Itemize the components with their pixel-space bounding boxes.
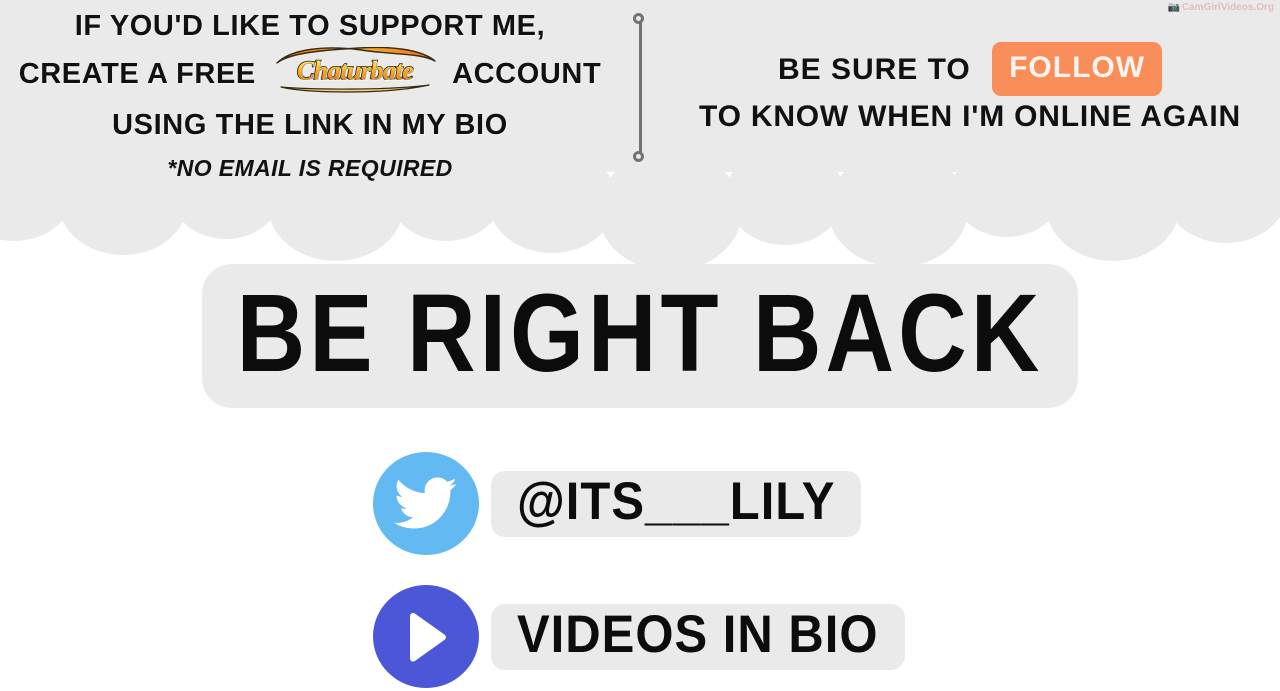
svg-text:Chaturbate: Chaturbate: [296, 56, 412, 85]
support-line-2-after: ACCOUNT: [452, 58, 601, 90]
divider-line: [639, 16, 642, 153]
chaturbate-logo: Chaturbate: [269, 47, 441, 105]
status-banner: BE RIGHT BACK: [202, 264, 1078, 408]
header-content: 📷CamGirlVideos.Org IF YOU'D LIKE TO SUPP…: [0, 0, 1280, 172]
cam-icon: 📷: [1167, 2, 1179, 13]
videos-in-bio-pill[interactable]: VIDEOS IN BIO: [491, 604, 905, 670]
stream-overlay-screen: 📷CamGirlVideos.Org IF YOU'D LIKE TO SUPP…: [0, 0, 1280, 691]
follow-message-block: BE SURE TO FOLLOW TO KNOW WHEN I'M ONLIN…: [660, 44, 1280, 134]
watermark-text: CamGirlVideos.Org: [1182, 2, 1274, 13]
vertical-pin-divider: [632, 8, 648, 160]
support-message-block: IF YOU'D LIKE TO SUPPORT ME, CREATE A FR…: [0, 6, 620, 182]
twitter-bird-icon[interactable]: [373, 452, 479, 555]
support-line-3: USING THE LINK IN MY BIO: [0, 105, 620, 146]
twitter-handle-pill[interactable]: @ITS___LILY: [491, 471, 861, 537]
site-watermark: 📷CamGirlVideos.Org: [1167, 2, 1274, 13]
twitter-handle-label: @ITS___LILY: [517, 476, 835, 529]
support-line-2: CREATE A FREE: [0, 47, 620, 105]
divider-dot-top-icon: [633, 13, 644, 24]
follow-line-1: BE SURE TO FOLLOW: [660, 44, 1280, 98]
status-banner-text: BE RIGHT BACK: [237, 279, 1044, 389]
support-line-1: IF YOU'D LIKE TO SUPPORT ME,: [0, 6, 620, 47]
divider-dot-bottom-icon: [633, 151, 644, 162]
support-line-2-before: CREATE A FREE: [19, 58, 256, 90]
social-row-twitter[interactable]: @ITS___LILY: [373, 452, 861, 555]
follow-line-1-text: BE SURE TO: [778, 53, 971, 86]
follow-line-2: TO KNOW WHEN I'M ONLINE AGAIN: [660, 100, 1280, 134]
social-row-videos[interactable]: VIDEOS IN BIO: [373, 585, 905, 688]
play-button-icon[interactable]: [373, 585, 479, 688]
no-email-note: *NO EMAIL IS REQUIRED: [0, 155, 620, 182]
follow-button[interactable]: FOLLOW: [992, 42, 1162, 96]
videos-in-bio-label: VIDEOS IN BIO: [517, 609, 879, 662]
